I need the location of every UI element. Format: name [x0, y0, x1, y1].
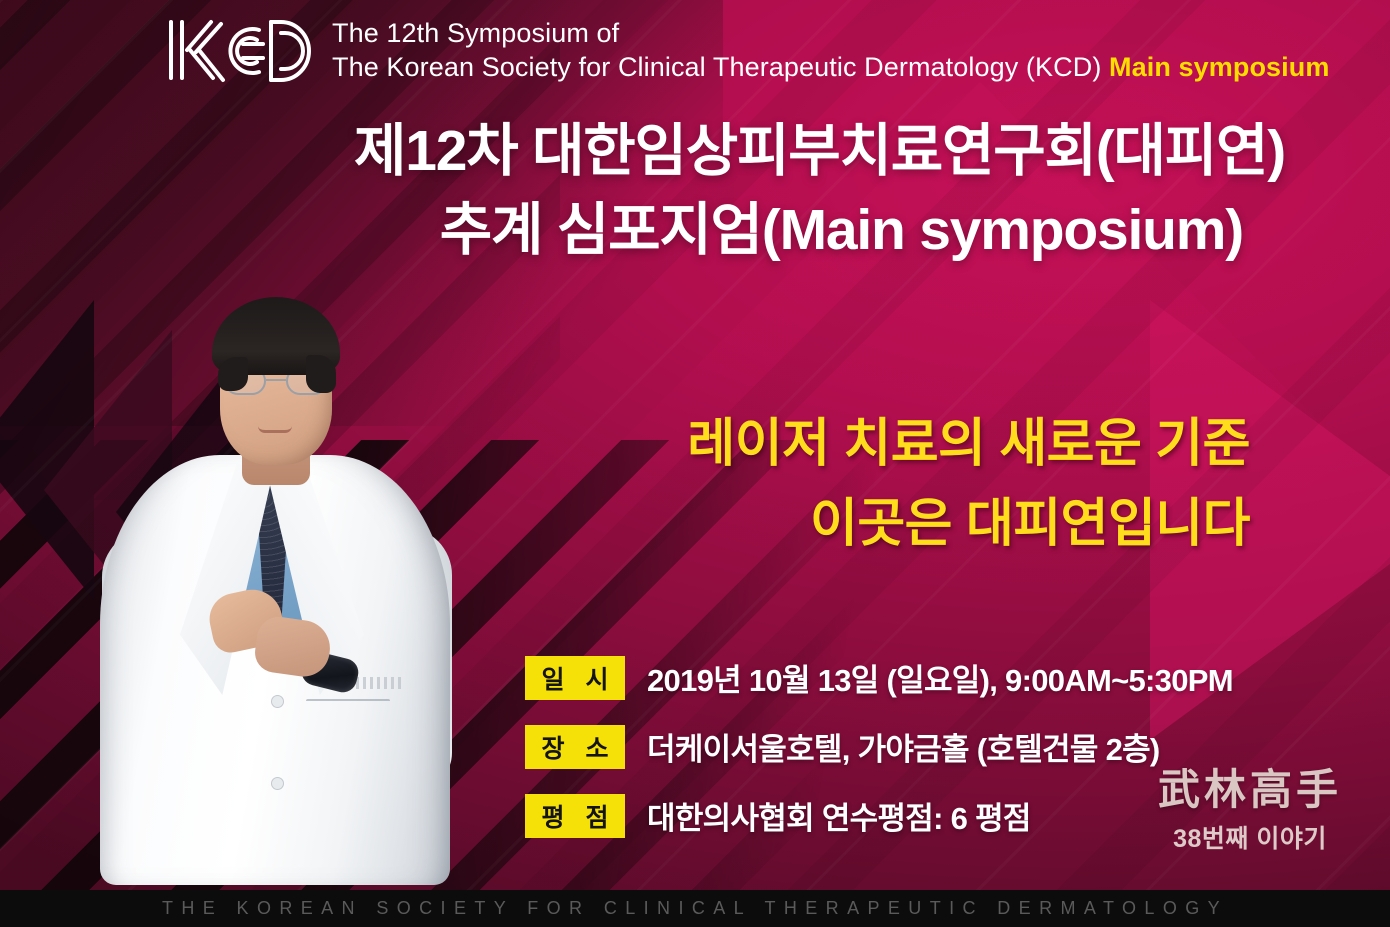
brand-episode-label: 38번째 이야기 — [1158, 819, 1342, 855]
coat-pocket — [306, 699, 390, 757]
footer-bar: THE KOREAN SOCIETY FOR CLINICAL THERAPEU… — [0, 890, 1390, 927]
detail-label-venue: 장 소 — [525, 725, 625, 769]
poster-root: The 12th Symposium of The Korean Society… — [0, 0, 1390, 927]
header-line-1: The 12th Symposium of — [332, 16, 1329, 50]
speaker-photo — [60, 225, 490, 885]
header-line-2-highlight: Main symposium — [1109, 52, 1329, 82]
footer-society-name: THE KOREAN SOCIETY FOR CLINICAL THERAPEU… — [162, 898, 1228, 919]
page-title: 제12차 대한임상피부치료연구회(대피연) 추계 심포지엄(Main sympo… — [0, 112, 1285, 269]
header-text: The 12th Symposium of The Korean Society… — [332, 16, 1329, 84]
title-line-1: 제12차 대한임상피부치료연구회(대피연) — [0, 112, 1285, 191]
speaker-mouth — [258, 426, 292, 433]
detail-value-date: 2019년 10월 13일 (일요일), 9:00AM~5:30PM — [647, 655, 1233, 700]
header-line-2: The Korean Society for Clinical Therapeu… — [332, 50, 1329, 84]
series-brand-mark: 武林高手 38번째 이야기 — [1158, 756, 1342, 855]
detail-value-venue: 더케이서울호텔, 가야금홀 (호텔건물 2층) — [647, 724, 1160, 769]
coat-button-2 — [272, 778, 283, 789]
detail-value-credits: 대한의사협회 연수평점: 6 평점 — [647, 793, 1031, 838]
tagline: 레이저 치료의 새로운 기준 이곳은 대피연입니다 — [687, 404, 1250, 564]
header-line-2-main: The Korean Society for Clinical Therapeu… — [332, 52, 1101, 82]
detail-row-date: 일 시 2019년 10월 13일 (일요일), 9:00AM~5:30PM — [525, 655, 1345, 700]
detail-label-credits: 평 점 — [525, 794, 625, 838]
kcd-logo-icon — [163, 14, 313, 88]
speaker-hair — [212, 297, 340, 375]
brand-chinese-title: 武林高手 — [1158, 756, 1342, 817]
coat-button-1 — [272, 696, 283, 707]
tagline-line-1: 레이저 치료의 새로운 기준 — [687, 404, 1250, 484]
tagline-line-2: 이곳은 대피연입니다 — [687, 484, 1250, 564]
detail-label-date: 일 시 — [525, 656, 625, 700]
title-line-2: 추계 심포지엄(Main symposium) — [0, 191, 1285, 270]
